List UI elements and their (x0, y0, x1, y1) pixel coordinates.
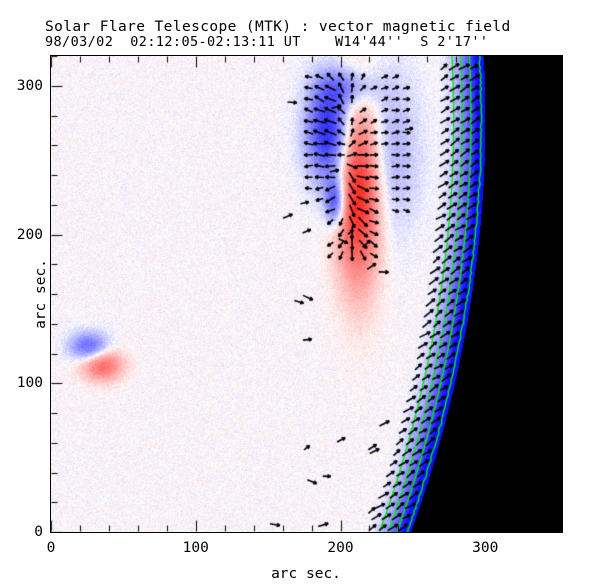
y-tick-label: 300 (17, 78, 43, 94)
x-tick-label: 0 (47, 540, 56, 556)
x-tick-label: 300 (472, 540, 498, 556)
figure-subtitle: 98/03/02 02:12:05-02:13:11 UT W14'44'' S… (45, 34, 488, 50)
solar-magnetogram-figure: Solar Flare Telescope (MTK) : vector mag… (0, 0, 612, 585)
x-tick-label: 200 (327, 540, 353, 556)
plot-area (50, 55, 563, 533)
y-tick-label: 0 (34, 524, 43, 540)
figure-title: Solar Flare Telescope (MTK) : vector mag… (45, 19, 511, 35)
axis-ticks (50, 55, 563, 533)
y-tick-label: 100 (17, 375, 43, 391)
x-axis-title: arc sec. (271, 566, 341, 582)
x-tick-label: 100 (183, 540, 209, 556)
y-tick-label: 200 (17, 227, 43, 243)
y-axis-title: arc sec. (33, 259, 49, 329)
